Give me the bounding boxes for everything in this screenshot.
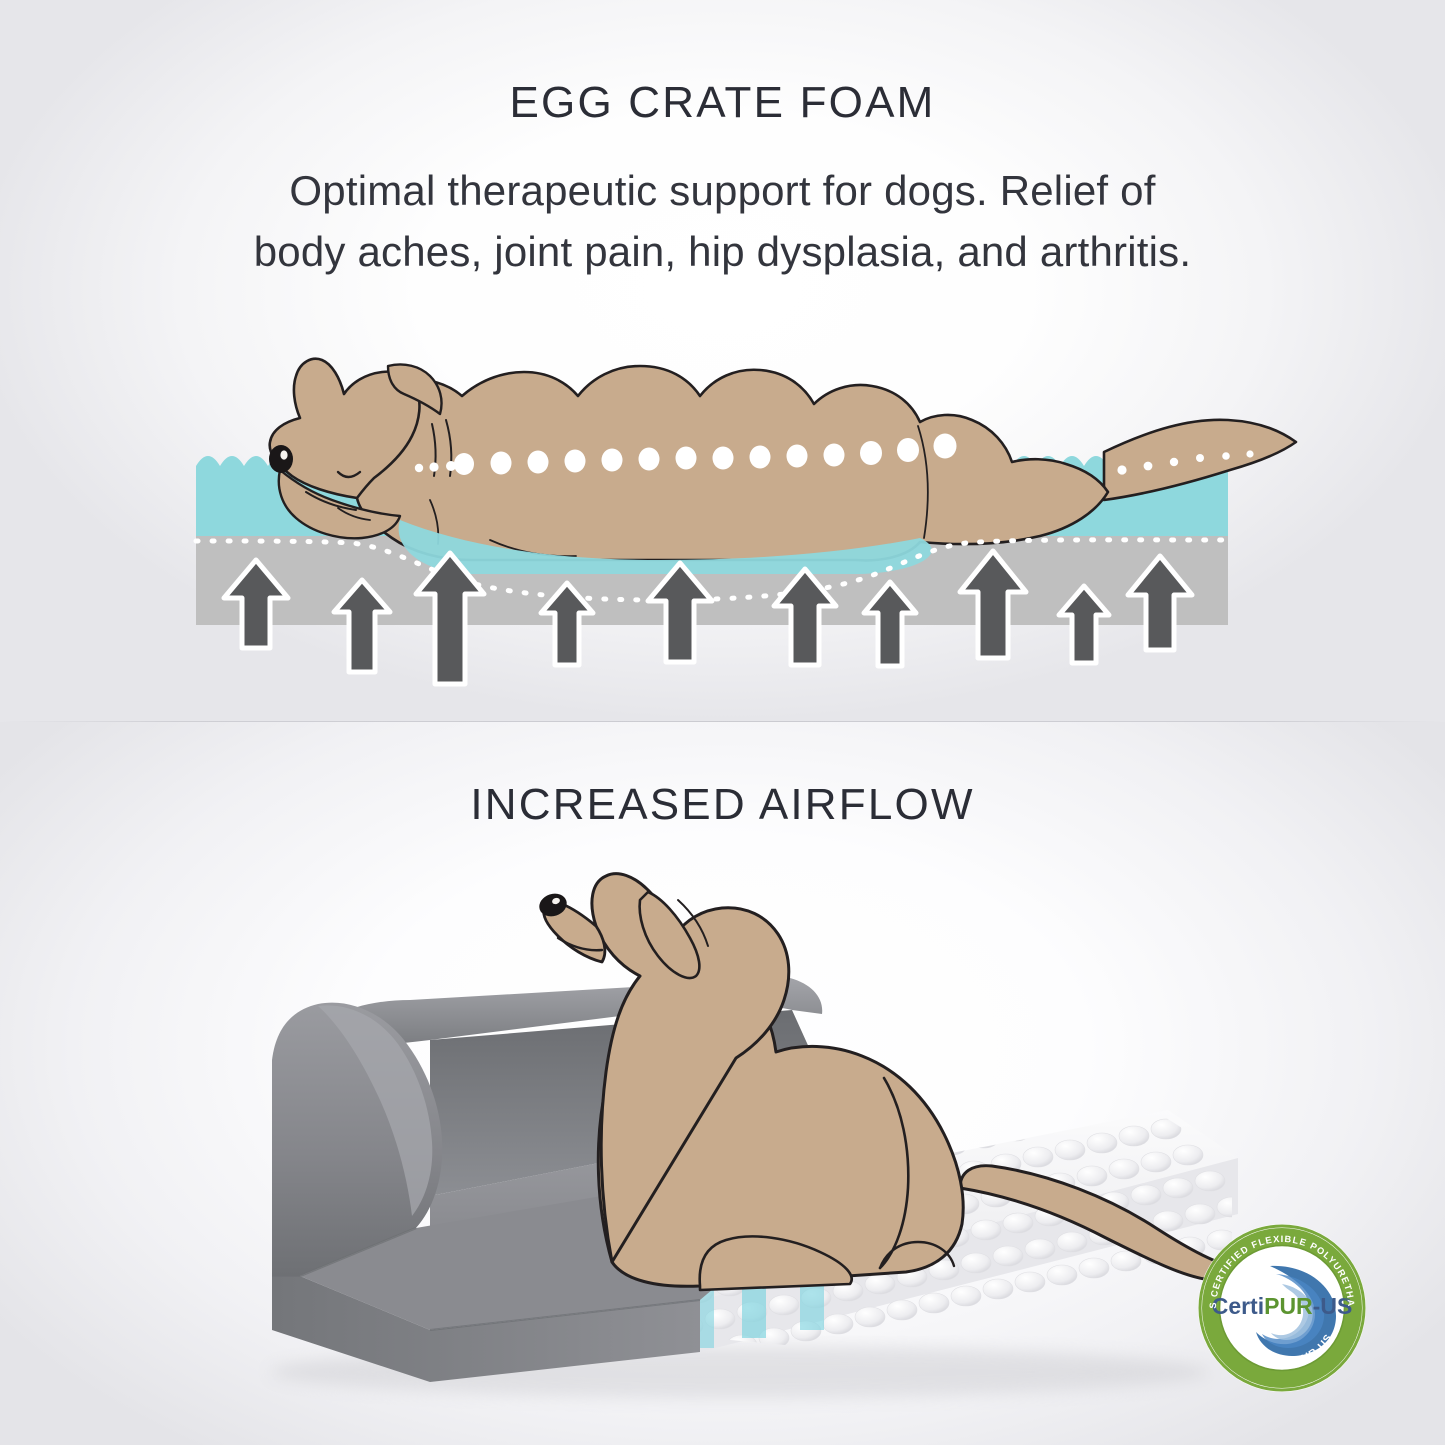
svg-text:CertiPUR-US: CertiPUR-US [1212, 1293, 1353, 1319]
certipur-wordmark: CertiPUR-US ® [1212, 1293, 1353, 1319]
certipur-us-badge: CertiPUR-US ® CONTAINS CERTIFIED FLEXIBL… [1196, 1222, 1368, 1394]
infographic-page: EGG CRATE FOAM Optimal therapeutic suppo… [0, 0, 1445, 1445]
dog-illustration-resting [536, 874, 1236, 1290]
certipur-badge-svg: CertiPUR-US ® CONTAINS CERTIFIED FLEXIBL… [1196, 1222, 1368, 1394]
